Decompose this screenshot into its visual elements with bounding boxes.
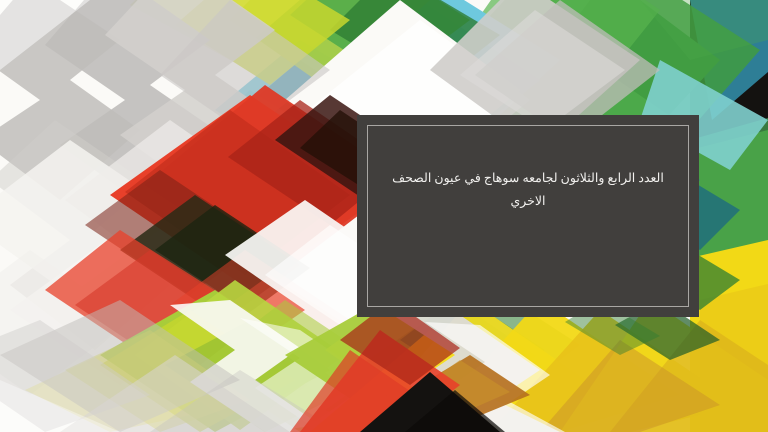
slide-title: العدد الرابع والثلاثون لجامعه سوهاج في ع… [383, 167, 673, 213]
slide-title-line-1: العدد الرابع والثلاثون لجامعه سوهاج في ع… [392, 171, 664, 185]
title-box-inner-border [367, 125, 689, 307]
presentation-slide: العدد الرابع والثلاثون لجامعه سوهاج في ع… [0, 0, 768, 432]
slide-title-line-2: الاخري [510, 194, 545, 208]
title-text-box[interactable]: العدد الرابع والثلاثون لجامعه سوهاج في ع… [357, 115, 699, 317]
